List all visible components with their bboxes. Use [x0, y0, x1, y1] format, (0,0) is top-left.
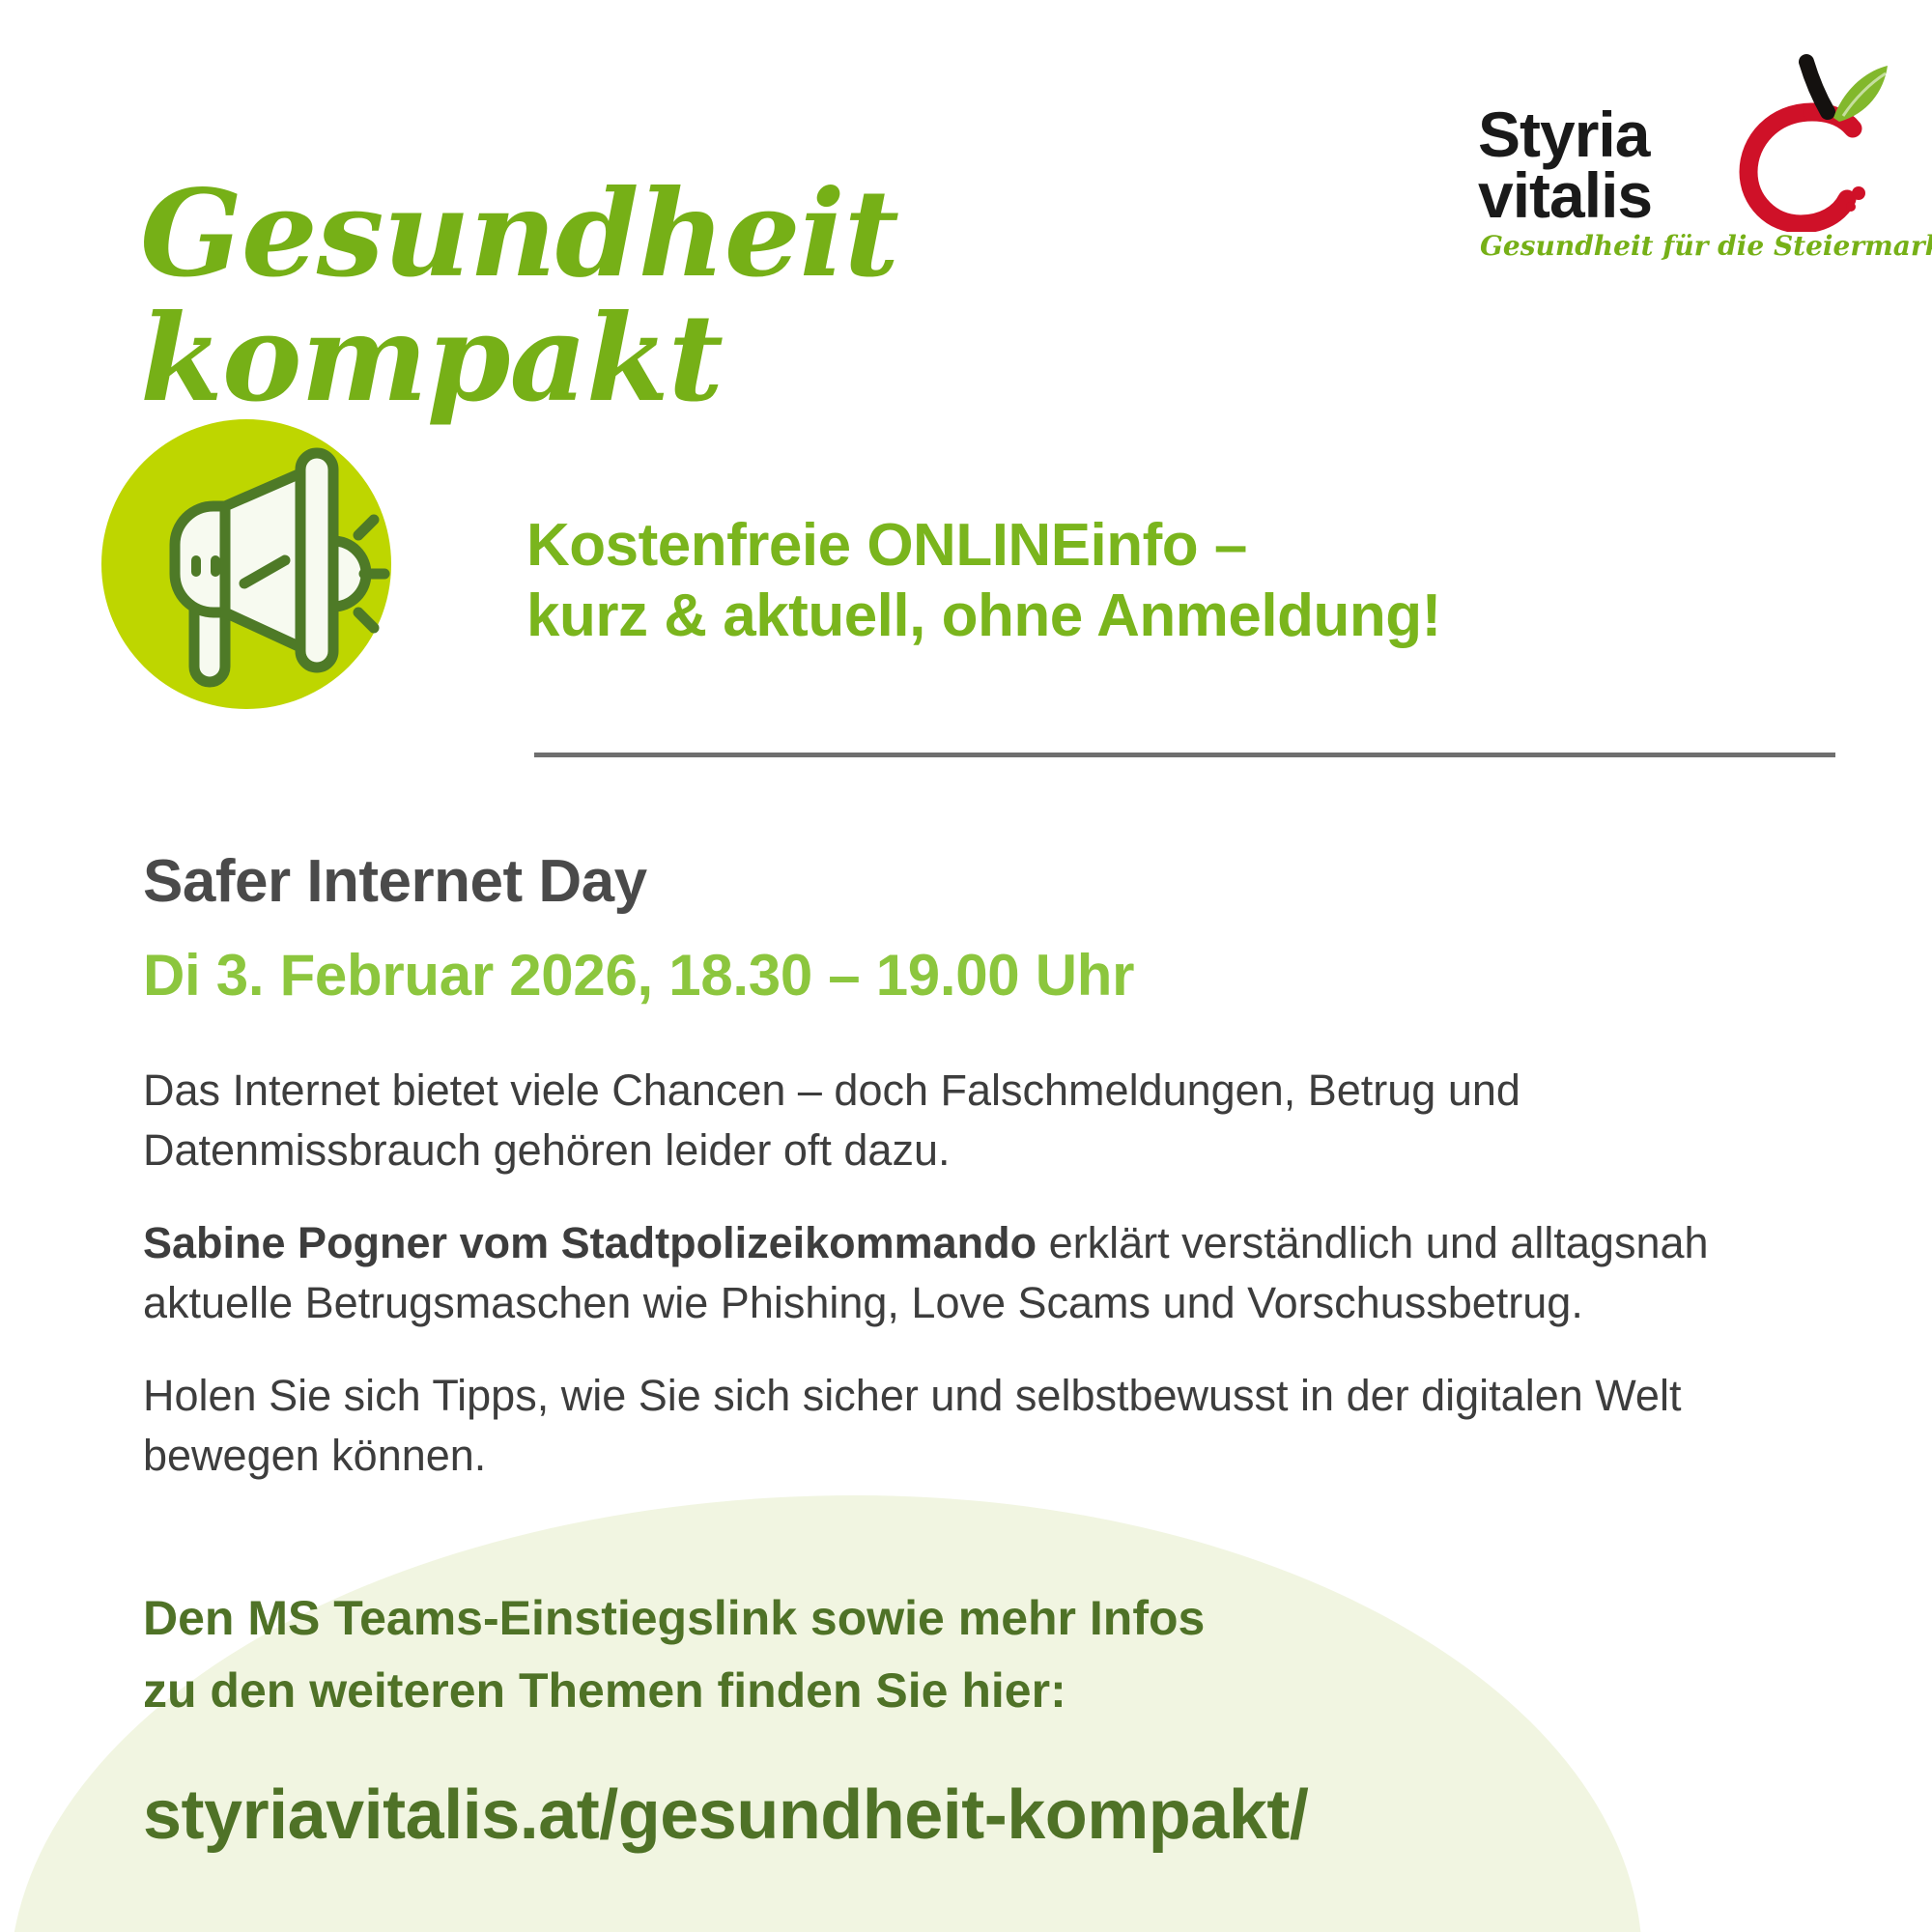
cta-line-2: zu den weiteren Themen finden Sie hier: [143, 1655, 1205, 1727]
styria-vitalis-logo: Styria vitalis Gesundheit für die Steier… [1478, 48, 1893, 270]
event-date: Di 3. Februar 2026, 18.30 – 19.00 Uhr [143, 942, 1134, 1009]
poster-canvas: Styria vitalis Gesundheit für die Steier… [0, 0, 1932, 1932]
body-paragraph-1: Das Internet bietet viele Chancen – doch… [143, 1061, 1727, 1180]
headline: Kostenfreie ONLINEinfo – kurz & aktuell,… [526, 510, 1715, 651]
body-paragraph-3: Holen Sie sich Tipps, wie Sie sich siche… [143, 1366, 1727, 1486]
cta-text: Den MS Teams-Einstiegslink sowie mehr In… [143, 1582, 1205, 1727]
body-copy: Das Internet bietet viele Chancen – doch… [143, 1061, 1727, 1520]
megaphone-badge [101, 419, 391, 709]
megaphone-icon [101, 419, 391, 709]
headline-line-1: Kostenfreie ONLINEinfo – [526, 512, 1247, 579]
cta-url[interactable]: styriavitalis.at/gesundheit-kompakt/ [143, 1776, 1308, 1855]
logo-line-2: vitalis [1478, 159, 1652, 231]
page-title-line-1: Gesundheit [140, 164, 898, 304]
page-title: Gesundheit kompakt [140, 173, 898, 422]
apple-logo-icon [1698, 48, 1891, 232]
cta-line-1: Den MS Teams-Einstiegslink sowie mehr In… [143, 1591, 1205, 1645]
divider-rule [534, 753, 1835, 757]
headline-line-2: kurz & aktuell, ohne Anmeldung! [526, 581, 1715, 651]
speaker-name: Sabine Pogner vom Stadtpolizeikommando [143, 1218, 1037, 1267]
page-title-line-2: kompakt [140, 298, 898, 422]
event-title: Safer Internet Day [143, 847, 647, 916]
logo-wordmark: Styria vitalis [1478, 104, 1652, 227]
body-paragraph-2: Sabine Pogner vom Stadtpolizeikommando e… [143, 1213, 1727, 1333]
logo-tagline: Gesundheit für die Steiermark! [1480, 230, 1932, 262]
